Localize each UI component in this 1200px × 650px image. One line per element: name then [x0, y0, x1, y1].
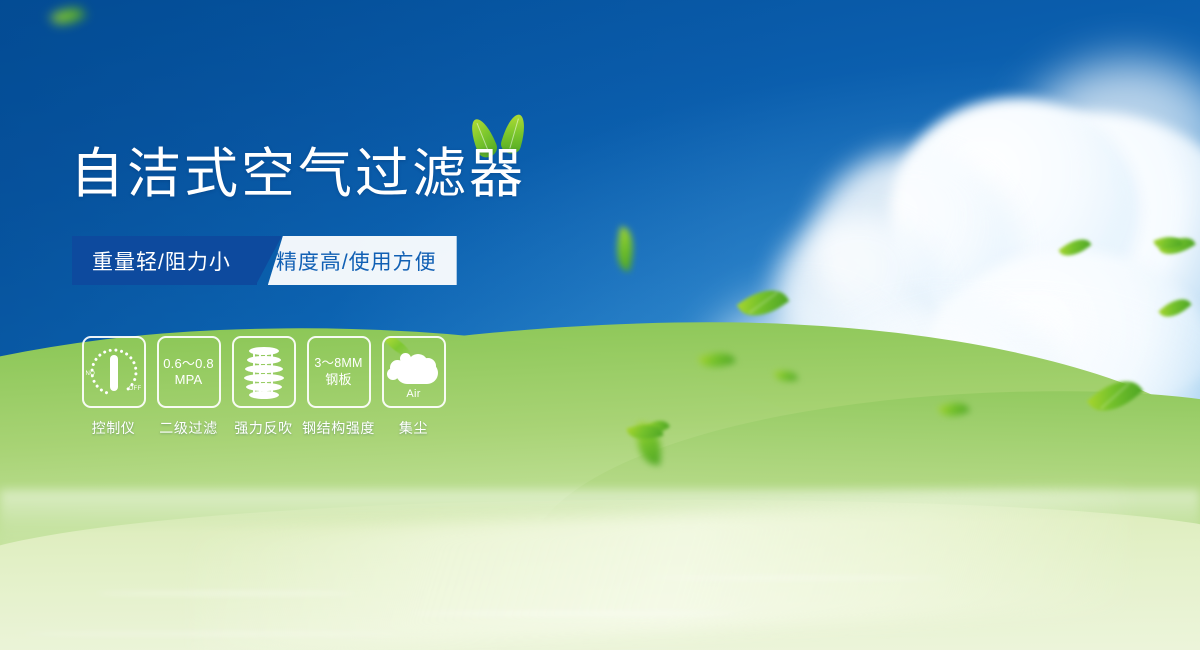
feature-item-backblow[interactable]: 强力反吹: [226, 336, 301, 438]
feature-label: 集尘: [399, 418, 428, 438]
feature-icon-box: NO OFF: [82, 336, 146, 408]
feature-icon-box: 0.6〜0.8 MPA: [157, 336, 221, 408]
hero-banner: 自洁式空气过滤器 重量轻/阻力小 精度高/使用方便: [0, 0, 1200, 650]
feature-icon-box: [232, 336, 296, 408]
gauge-needle: [110, 355, 118, 391]
feature-item-steel-strength[interactable]: 3〜8MM 钢板 钢结构强度: [301, 336, 376, 438]
subtitle-bar: 重量轻/阻力小 精度高/使用方便: [72, 236, 457, 285]
steel-value-line1: 3〜8MM: [314, 356, 362, 372]
grass-streak: [408, 611, 738, 616]
feature-list: NO OFF 控制仪 0.6〜0.8 MPA 二级过滤: [76, 336, 451, 438]
cloud-air-icon: Air: [386, 348, 442, 396]
feature-label: 强力反吹: [234, 418, 292, 438]
gauge-label-off: OFF: [129, 386, 142, 392]
air-label: Air: [386, 388, 442, 400]
subtitle-left: 重量轻/阻力小: [72, 236, 257, 285]
feature-label: 控制仪: [92, 418, 136, 438]
filter-coil-icon: [241, 345, 287, 399]
grass-streak: [648, 576, 948, 580]
feature-label: 二级过滤: [159, 418, 217, 438]
gauge-icon: NO OFF: [87, 345, 141, 399]
grass-field: [0, 470, 1200, 650]
grass-streak: [96, 591, 356, 596]
feature-label: 钢结构强度: [302, 418, 375, 438]
pressure-value-line1: 0.6〜0.8: [163, 356, 214, 372]
page-title: 自洁式空气过滤器: [70, 146, 526, 203]
feature-icon-box: 3〜8MM 钢板: [307, 336, 371, 408]
feature-item-dust-collection[interactable]: Air 集尘: [376, 336, 451, 438]
pressure-value-line2: MPA: [175, 372, 203, 388]
subtitle-right: 精度高/使用方便: [268, 236, 457, 285]
feature-item-controller[interactable]: NO OFF 控制仪: [76, 336, 151, 438]
feature-item-two-stage-filter[interactable]: 0.6〜0.8 MPA 二级过滤: [151, 336, 226, 438]
steel-value-line2: 钢板: [325, 372, 351, 388]
grass-streak: [24, 632, 404, 636]
gauge-label-no: NO: [86, 371, 96, 377]
feature-icon-box: Air: [382, 336, 446, 408]
